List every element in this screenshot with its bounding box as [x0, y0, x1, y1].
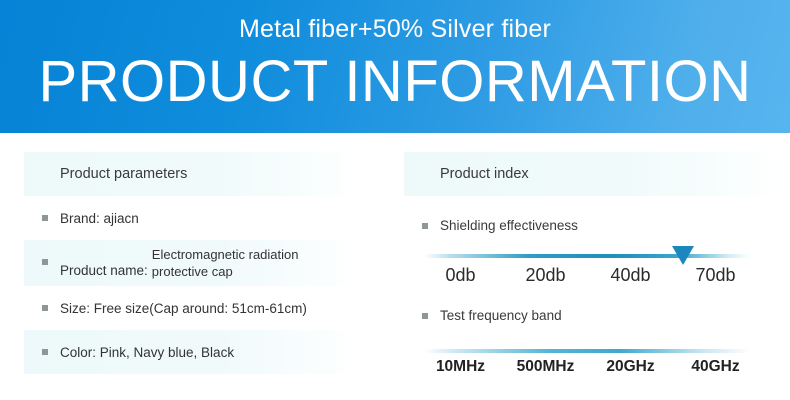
parameter-brand-text: Brand: ajiacn	[60, 209, 139, 228]
parameter-row-color: Color: Pink, Navy blue, Black	[24, 330, 358, 374]
section-test-frequency-band: Test frequency band 10MHz 500MHz 20GHz 4…	[404, 306, 780, 387]
bullet-square-icon	[42, 305, 48, 311]
parameter-size-note: (Cap around: 51cm-61cm)	[149, 299, 307, 318]
bullet-square-icon	[422, 313, 428, 319]
product-parameters-rows: Brand: ajiacn Product name: Electromagne…	[24, 196, 358, 374]
page-header: Metal fiber+50% Silver fiber PRODUCT INF…	[0, 0, 790, 133]
page-title: PRODUCT INFORMATION	[0, 49, 790, 115]
parameter-row-product-name: Product name: Electromagnetic radiation …	[24, 240, 358, 286]
parameter-size-text: Size: Free size	[60, 299, 149, 318]
shielding-scale-bar	[424, 254, 750, 258]
parameter-row-size: Size: Free size (Cap around: 51cm-61cm)	[24, 286, 358, 330]
frequency-scale-ticks: 10MHz 500MHz 20GHz 40GHz	[418, 354, 758, 380]
bullet-square-icon	[422, 223, 428, 229]
parameter-row-brand: Brand: ajiacn	[24, 196, 358, 240]
bullet-square-icon	[42, 215, 48, 221]
section-shielding-effectiveness: Shielding effectiveness 0db 20db 40db 70…	[404, 216, 780, 292]
shielding-effectiveness-label: Shielding effectiveness	[440, 216, 780, 235]
header-subtitle: Metal fiber+50% Silver fiber	[0, 14, 790, 44]
product-index-panel: Product index Shielding effectiveness 0d…	[404, 152, 780, 387]
frequency-scale: 10MHz 500MHz 20GHz 40GHz	[418, 341, 758, 387]
product-parameters-heading: Product parameters	[24, 152, 358, 196]
frequency-tick-3: 40GHz	[673, 354, 758, 380]
shielding-tick-0: 0db	[418, 262, 503, 288]
parameter-product-name-label: Product name:	[60, 261, 148, 280]
shielding-tick-1: 20db	[503, 262, 588, 288]
frequency-scale-bar	[424, 349, 750, 353]
frequency-tick-1: 500MHz	[503, 354, 588, 380]
bullet-square-icon	[42, 349, 48, 355]
bullet-square-icon	[42, 259, 48, 265]
product-parameters-panel: Product parameters Brand: ajiacn Product…	[24, 152, 358, 374]
shielding-tick-3: 70db	[673, 262, 758, 288]
frequency-tick-0: 10MHz	[418, 354, 503, 380]
shielding-scale: 0db 20db 40db 70db	[418, 246, 758, 292]
frequency-tick-2: 20GHz	[588, 354, 673, 380]
product-index-heading: Product index	[404, 152, 780, 196]
test-frequency-band-label: Test frequency band	[440, 306, 780, 325]
shielding-scale-ticks: 0db 20db 40db 70db	[418, 262, 758, 288]
parameter-product-name-value: Electromagnetic radiation protective cap	[152, 246, 337, 280]
parameter-color-text: Color: Pink, Navy blue, Black	[60, 343, 234, 362]
shielding-tick-2: 40db	[588, 262, 673, 288]
